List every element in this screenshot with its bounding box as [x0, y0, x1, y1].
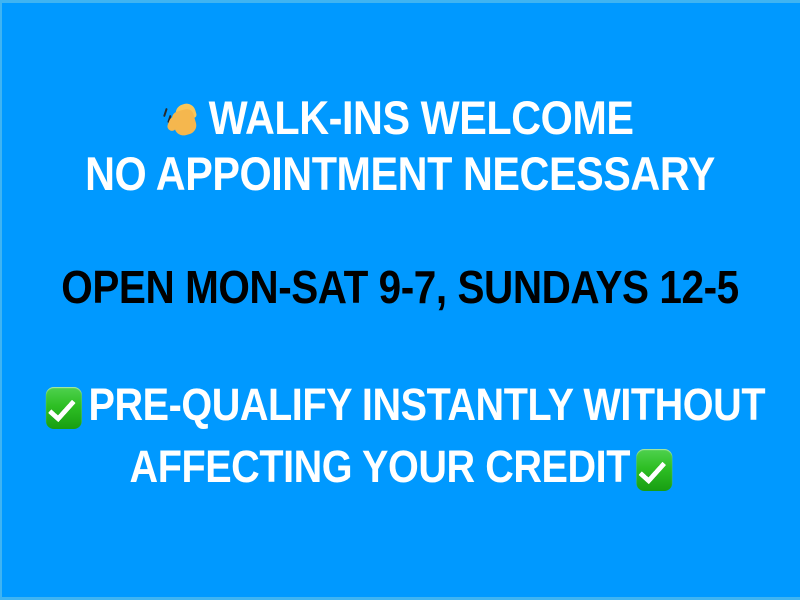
walk-ins-welcome-text: WALK-INS WELCOME [209, 91, 634, 144]
check-mark-icon-leading [46, 387, 82, 429]
top-edge-band [0, 0, 800, 3]
prequalify-text-1: PRE-QUALIFY INSTANTLY WITHOUT [88, 379, 765, 430]
no-appointment-text: NO APPOINTMENT NECESSARY [85, 147, 715, 200]
check-mark-icon-trailing [637, 449, 673, 491]
waving-hand-icon [164, 101, 204, 141]
prequalify-line-1: PRE-QUALIFY INSTANTLY WITHOUT [48, 374, 752, 436]
store-hours-block: OPEN MON-SAT 9-7, SUNDAYS 12-5 [0, 260, 800, 314]
hours-text: OPEN MON-SAT 9-7, SUNDAYS 12-5 [61, 261, 738, 313]
prequalify-text-2: AFFECTING YOUR CREDIT [130, 441, 630, 492]
prequalify-line-2: AFFECTING YOUR CREDIT [48, 436, 752, 498]
promotional-sign: WALK-INS WELCOME NO APPOINTMENT NECESSAR… [0, 0, 800, 600]
no-appointment-line: NO APPOINTMENT NECESSARY [48, 146, 752, 202]
prequalify-message-block: PRE-QUALIFY INSTANTLY WITHOUT AFFECTING … [0, 374, 800, 498]
hours-line: OPEN MON-SAT 9-7, SUNDAYS 12-5 [48, 260, 752, 314]
welcome-message-block: WALK-INS WELCOME NO APPOINTMENT NECESSAR… [0, 90, 800, 202]
walk-ins-welcome-line: WALK-INS WELCOME [48, 90, 752, 146]
